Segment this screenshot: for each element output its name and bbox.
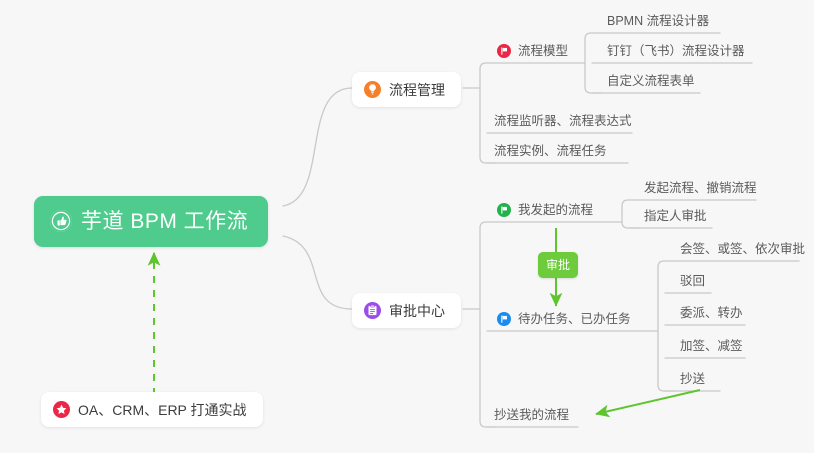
leaf-label-todo-done-tasks: 待办任务、已办任务 <box>518 312 631 326</box>
leaf-label-countersign-orsign-sequential: 会签、或签、依次审批 <box>680 242 805 256</box>
leaf-label-process-model: 流程模型 <box>518 44 568 58</box>
leaf-label-reject: 驳回 <box>680 274 705 288</box>
leaf-todo-done-tasks[interactable]: 待办任务、已办任务 <box>493 312 638 331</box>
leaf-countersign-orsign-sequential[interactable]: 会签、或签、依次审批 <box>673 242 812 261</box>
leaf-reject[interactable]: 驳回 <box>673 274 712 293</box>
leaf-label-bpmn-designer: BPMN 流程设计器 <box>607 14 709 28</box>
leaf-start-cancel-process[interactable]: 发起流程、撤销流程 <box>637 181 764 200</box>
leaf-delegate-transfer[interactable]: 委派、转办 <box>673 306 750 325</box>
lightbulb-icon <box>364 81 381 98</box>
leaf-process-listener-expression[interactable]: 流程监听器、流程表达式 <box>487 114 639 133</box>
note-card-oa-crm-erp[interactable]: OA、CRM、ERP 打通实战 <box>41 392 263 427</box>
arrow-cc-flow <box>596 390 700 414</box>
branch-node-process-management[interactable]: 流程管理 <box>352 72 461 107</box>
flag-blue-icon <box>497 312 511 326</box>
leaf-label-process-instance-task: 流程实例、流程任务 <box>494 144 607 158</box>
clipboard-icon <box>364 302 381 319</box>
leaf-label-custom-process-form: 自定义流程表单 <box>607 74 695 88</box>
flag-green-icon <box>497 203 511 217</box>
leaf-label-dingtalk-feishu-designer: 钉钉（飞书）流程设计器 <box>607 44 745 58</box>
branch-node-approval-center[interactable]: 审批中心 <box>352 293 461 328</box>
leaf-carbon-copy[interactable]: 抄送 <box>673 372 712 391</box>
mindmap-canvas: 芋道 BPM 工作流 OA、CRM、ERP 打通实战 流程管理 <box>0 0 814 453</box>
leaf-label-process-listener-expression: 流程监听器、流程表达式 <box>494 114 632 128</box>
leaf-custom-process-form[interactable]: 自定义流程表单 <box>600 74 702 93</box>
annotation-chip-approve: 审批 <box>538 252 578 278</box>
annotation-chip-approve-label: 审批 <box>546 258 570 272</box>
branch-label-process-management: 流程管理 <box>389 82 445 98</box>
link-root-to-process-management <box>283 88 352 206</box>
leaf-label-carbon-copy: 抄送 <box>680 372 705 386</box>
leaf-process-model[interactable]: 流程模型 <box>493 44 575 63</box>
leaf-label-assignee-approval: 指定人审批 <box>644 209 707 223</box>
leaf-label-add-remove-sign: 加签、减签 <box>680 339 743 353</box>
note-card-label: OA、CRM、ERP 打通实战 <box>78 402 247 418</box>
leaf-add-remove-sign[interactable]: 加签、减签 <box>673 339 750 358</box>
leaf-process-instance-task[interactable]: 流程实例、流程任务 <box>487 144 614 163</box>
leaf-label-my-initiated-processes: 我发起的流程 <box>518 203 593 217</box>
leaf-label-start-cancel-process: 发起流程、撤销流程 <box>644 181 757 195</box>
leaf-cc-to-me-processes[interactable]: 抄送我的流程 <box>487 408 576 427</box>
star-icon <box>53 401 70 418</box>
leaf-my-initiated-processes[interactable]: 我发起的流程 <box>493 203 600 222</box>
leaf-assignee-approval[interactable]: 指定人审批 <box>637 209 714 228</box>
thumbs-up-icon <box>50 210 72 232</box>
leaf-dingtalk-feishu-designer[interactable]: 钉钉（飞书）流程设计器 <box>600 44 752 63</box>
leaf-label-delegate-transfer: 委派、转办 <box>680 306 743 320</box>
flag-red-icon <box>497 44 511 58</box>
leaf-bpmn-designer[interactable]: BPMN 流程设计器 <box>600 14 716 33</box>
root-node[interactable]: 芋道 BPM 工作流 <box>34 196 268 247</box>
root-label: 芋道 BPM 工作流 <box>81 211 248 232</box>
branch-label-approval-center: 审批中心 <box>389 303 445 319</box>
leaf-label-cc-to-me-processes: 抄送我的流程 <box>494 408 569 422</box>
link-root-to-approval-center <box>283 236 352 309</box>
